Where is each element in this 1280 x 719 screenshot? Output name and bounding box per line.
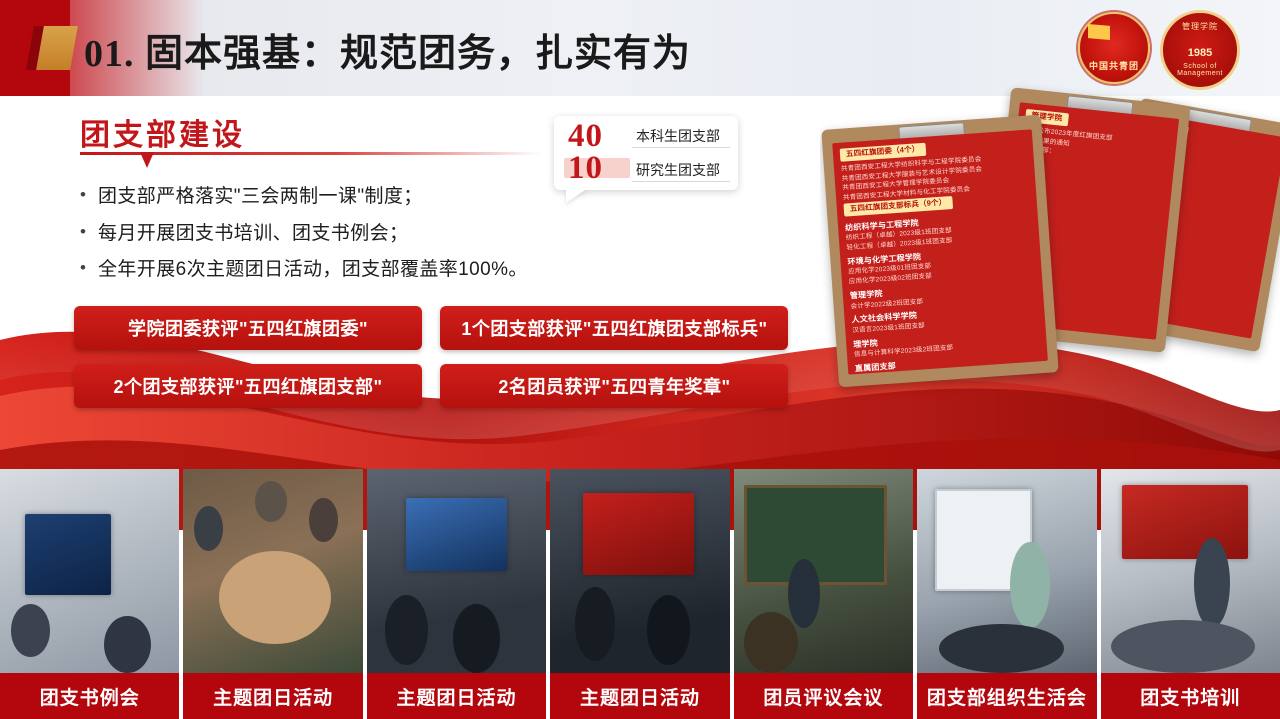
audience-silhouette bbox=[939, 624, 1065, 673]
audience-silhouette bbox=[575, 587, 614, 660]
photo-image bbox=[917, 469, 1096, 673]
header-mark-gold bbox=[36, 26, 78, 70]
statistics-callout: 40 10 本科生团支部 研究生团支部 bbox=[554, 116, 738, 190]
award-pill: 2名团员获评"五四青年奖章" bbox=[440, 364, 788, 408]
audience-silhouette bbox=[453, 604, 500, 673]
photo-image bbox=[0, 469, 179, 673]
audience-silhouette bbox=[1111, 620, 1255, 673]
award-pill: 学院团委获评"五四红旗团委" bbox=[74, 306, 422, 350]
flag-icon bbox=[1088, 24, 1110, 40]
bullet-dot-icon: • bbox=[80, 221, 98, 244]
photo-caption: 团支部组织生活会 bbox=[917, 673, 1096, 719]
notice-text: 五四红旗团委（4个） 共青团西安工程大学纺织科学与工程学院委员会 共青团西安工程… bbox=[832, 129, 1048, 374]
photo-image bbox=[550, 469, 729, 673]
person-silhouette bbox=[11, 604, 50, 657]
bullet-text: 团支部严格落实"三会两制一课"制度； bbox=[98, 184, 423, 210]
person-silhouette bbox=[788, 559, 820, 628]
person-silhouette bbox=[255, 481, 287, 522]
projector-screen-icon bbox=[406, 498, 506, 571]
list-item: • 全年开展6次主题团日活动，团支部覆盖率100%。 bbox=[80, 257, 720, 283]
person-silhouette bbox=[1194, 538, 1230, 628]
bullet-text: 全年开展6次主题团日活动，团支部覆盖率100%。 bbox=[98, 257, 528, 283]
photo-caption: 团支书培训 bbox=[1101, 673, 1280, 719]
photo-caption: 主题团日活动 bbox=[550, 673, 729, 719]
photo-caption: 主题团日活动 bbox=[183, 673, 362, 719]
photo-image bbox=[367, 469, 546, 673]
section-title: 团支部建设 bbox=[80, 110, 245, 154]
school-badge-top-label: 管理学院 bbox=[1163, 21, 1237, 32]
photo-caption: 团支书例会 bbox=[0, 673, 179, 719]
photo-cell: 主题团日活动 bbox=[550, 469, 729, 719]
person-silhouette bbox=[1010, 542, 1049, 628]
award-pill: 2个团支部获评"五四红旗团支部" bbox=[74, 364, 422, 408]
photo-caption: 主题团日活动 bbox=[367, 673, 546, 719]
divider bbox=[632, 147, 730, 148]
photo-cell: 团员评议会议 bbox=[734, 469, 913, 719]
desk-shape bbox=[744, 612, 798, 673]
screen-icon bbox=[25, 514, 111, 596]
bullet-dot-icon: • bbox=[80, 257, 98, 280]
notice-sheet: 五四红旗团委（4个） 共青团西安工程大学纺织科学与工程学院委员会 共青团西安工程… bbox=[832, 129, 1048, 374]
photo-cell: 团支部组织生活会 bbox=[917, 469, 1096, 719]
photo-cell: 团支书例会 bbox=[0, 469, 179, 719]
photo-image bbox=[183, 469, 362, 673]
photo-image bbox=[734, 469, 913, 673]
audience-silhouette bbox=[647, 595, 690, 664]
award-pill: 1个团支部获评"五四红旗团支部标兵" bbox=[440, 306, 788, 350]
photo-cell: 主题团日活动 bbox=[367, 469, 546, 719]
projector-screen-icon bbox=[583, 493, 694, 575]
section-underline-tick-icon bbox=[140, 152, 154, 168]
list-item: • 每月开展团支书培训、团支书例会； bbox=[80, 221, 720, 247]
bullet-list: • 团支部严格落实"三会两制一课"制度； • 每月开展团支书培训、团支书例会； … bbox=[80, 184, 720, 294]
person-silhouette bbox=[104, 616, 151, 673]
photo-caption: 团员评议会议 bbox=[734, 673, 913, 719]
stat-label-undergrad: 本科生团支部 bbox=[636, 126, 720, 146]
person-silhouette bbox=[309, 498, 338, 543]
stat-label-graduate: 研究生团支部 bbox=[636, 160, 720, 180]
photo-cell: 团支书培训 bbox=[1101, 469, 1280, 719]
photo-strip: 团支书例会 主题团日活动 主题团日活动 bbox=[0, 469, 1280, 719]
award-pill-group: 学院团委获评"五四红旗团委" 1个团支部获评"五四红旗团支部标兵" 2个团支部获… bbox=[74, 306, 814, 422]
photo-cell: 主题团日活动 bbox=[183, 469, 362, 719]
divider bbox=[632, 181, 730, 182]
stat-number-graduate: 10 bbox=[568, 150, 603, 187]
table-shape bbox=[219, 551, 330, 645]
emblem-label: 中国共青团 bbox=[1080, 59, 1148, 72]
bullet-text: 每月开展团支书培训、团支书例会； bbox=[98, 221, 408, 247]
notice-board-collage: 团支部 评选表彰 决定 管理学院 关于公布2023年度红旗团支部 评选结果的通知… bbox=[820, 72, 1280, 412]
audience-silhouette bbox=[385, 595, 428, 664]
photo-image bbox=[1101, 469, 1280, 673]
bullet-dot-icon: • bbox=[80, 184, 98, 207]
person-silhouette bbox=[194, 506, 223, 551]
projector-screen-icon bbox=[1122, 485, 1248, 558]
slide-root: 01. 固本强基：规范团务，扎实有为 中国共青团 管理学院 1985 Schoo… bbox=[0, 0, 1280, 719]
notice-board-1: 五四红旗团委（4个） 共青团西安工程大学纺织科学与工程学院委员会 共青团西安工程… bbox=[821, 115, 1058, 388]
school-badge-year: 1985 bbox=[1163, 47, 1237, 59]
page-title: 01. 固本强基：规范团务，扎实有为 bbox=[84, 22, 691, 77]
